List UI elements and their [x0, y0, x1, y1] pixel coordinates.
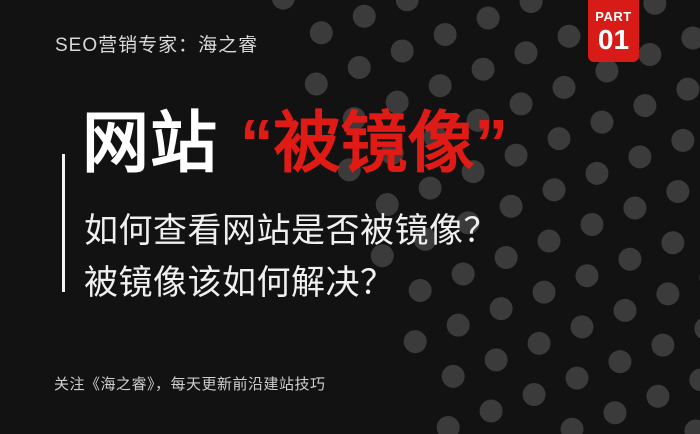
vertical-accent-rule	[62, 154, 65, 292]
pattern-dot	[658, 228, 688, 258]
pattern-dot	[539, 175, 569, 205]
pattern-dot	[344, 53, 374, 83]
pattern-dot	[511, 38, 541, 68]
pattern-dot	[620, 193, 650, 223]
pattern-dot	[473, 3, 503, 33]
footer-note: 关注《海之睿》，每天更新前沿建站技巧	[54, 373, 326, 394]
pattern-dot	[681, 416, 700, 434]
pattern-dot	[392, 0, 422, 15]
pattern-dot	[572, 261, 602, 291]
pattern-dot	[562, 363, 592, 393]
pattern-dot	[630, 91, 660, 121]
part-badge: PART 01	[588, 0, 639, 62]
pattern-dot	[605, 347, 635, 377]
pattern-dot	[268, 0, 298, 13]
page-title-primary: 网站	[82, 110, 218, 177]
pattern-dot	[524, 329, 554, 359]
page-title-highlight: “被镜像”	[240, 110, 508, 177]
pattern-dot	[696, 263, 700, 293]
pattern-dot	[610, 296, 640, 326]
pattern-dot	[587, 107, 617, 137]
pattern-dot	[582, 158, 612, 188]
pattern-dot	[506, 89, 536, 119]
pattern-dot	[691, 314, 700, 344]
pattern-dot	[519, 380, 549, 410]
pattern-dot	[433, 413, 463, 434]
pattern-dot	[615, 244, 645, 274]
subtitle-line-2: 被镜像该如何解决？	[84, 266, 395, 300]
pattern-dot	[486, 294, 516, 324]
pattern-dot	[534, 226, 564, 256]
pattern-dot	[668, 125, 698, 155]
pattern-dot	[686, 365, 700, 395]
pattern-dot	[430, 20, 460, 50]
pattern-dot	[544, 124, 574, 154]
slide-canvas: SEO营销专家：海之睿 PART 01 网站 “被镜像” 如何查看网站是否被镜像…	[0, 0, 700, 434]
pattern-dot	[678, 23, 700, 53]
pattern-dot	[301, 69, 331, 99]
pattern-dot	[443, 310, 473, 340]
pattern-dot	[400, 327, 430, 357]
pattern-dot	[643, 381, 673, 411]
pattern-dot	[554, 21, 584, 51]
pattern-dot	[438, 361, 468, 391]
pattern-dot	[306, 18, 336, 48]
pattern-dot	[387, 36, 417, 66]
pattern-dot	[653, 279, 683, 309]
pattern-dot	[476, 396, 506, 426]
pattern-dot	[448, 259, 478, 289]
pattern-dot	[663, 177, 693, 207]
pattern-dot	[349, 1, 379, 31]
pattern-dot	[635, 40, 665, 70]
pattern-dot	[529, 277, 559, 307]
pattern-dot	[683, 0, 700, 2]
page-title: 网站 “被镜像”	[82, 101, 508, 185]
pattern-dot	[557, 414, 587, 434]
part-badge-number: 01	[598, 26, 629, 54]
pattern-dot	[640, 0, 670, 18]
pattern-dot	[549, 73, 579, 103]
pattern-dot	[625, 142, 655, 172]
pattern-dot	[600, 398, 630, 428]
subtitle-line-1: 如何查看网站是否被镜像？	[84, 214, 498, 248]
pattern-dot	[405, 276, 435, 306]
pattern-dot	[468, 54, 498, 84]
pattern-dot	[673, 74, 700, 104]
part-badge-label: PART	[595, 10, 631, 23]
pattern-dot	[481, 345, 511, 375]
pattern-dot	[577, 210, 607, 240]
pattern-dot	[496, 191, 526, 221]
pattern-dot	[516, 0, 546, 16]
pattern-dot	[648, 330, 678, 360]
pattern-dot	[425, 71, 455, 101]
pattern-dot	[567, 312, 597, 342]
byline-text: SEO营销专家：海之睿	[55, 30, 258, 57]
